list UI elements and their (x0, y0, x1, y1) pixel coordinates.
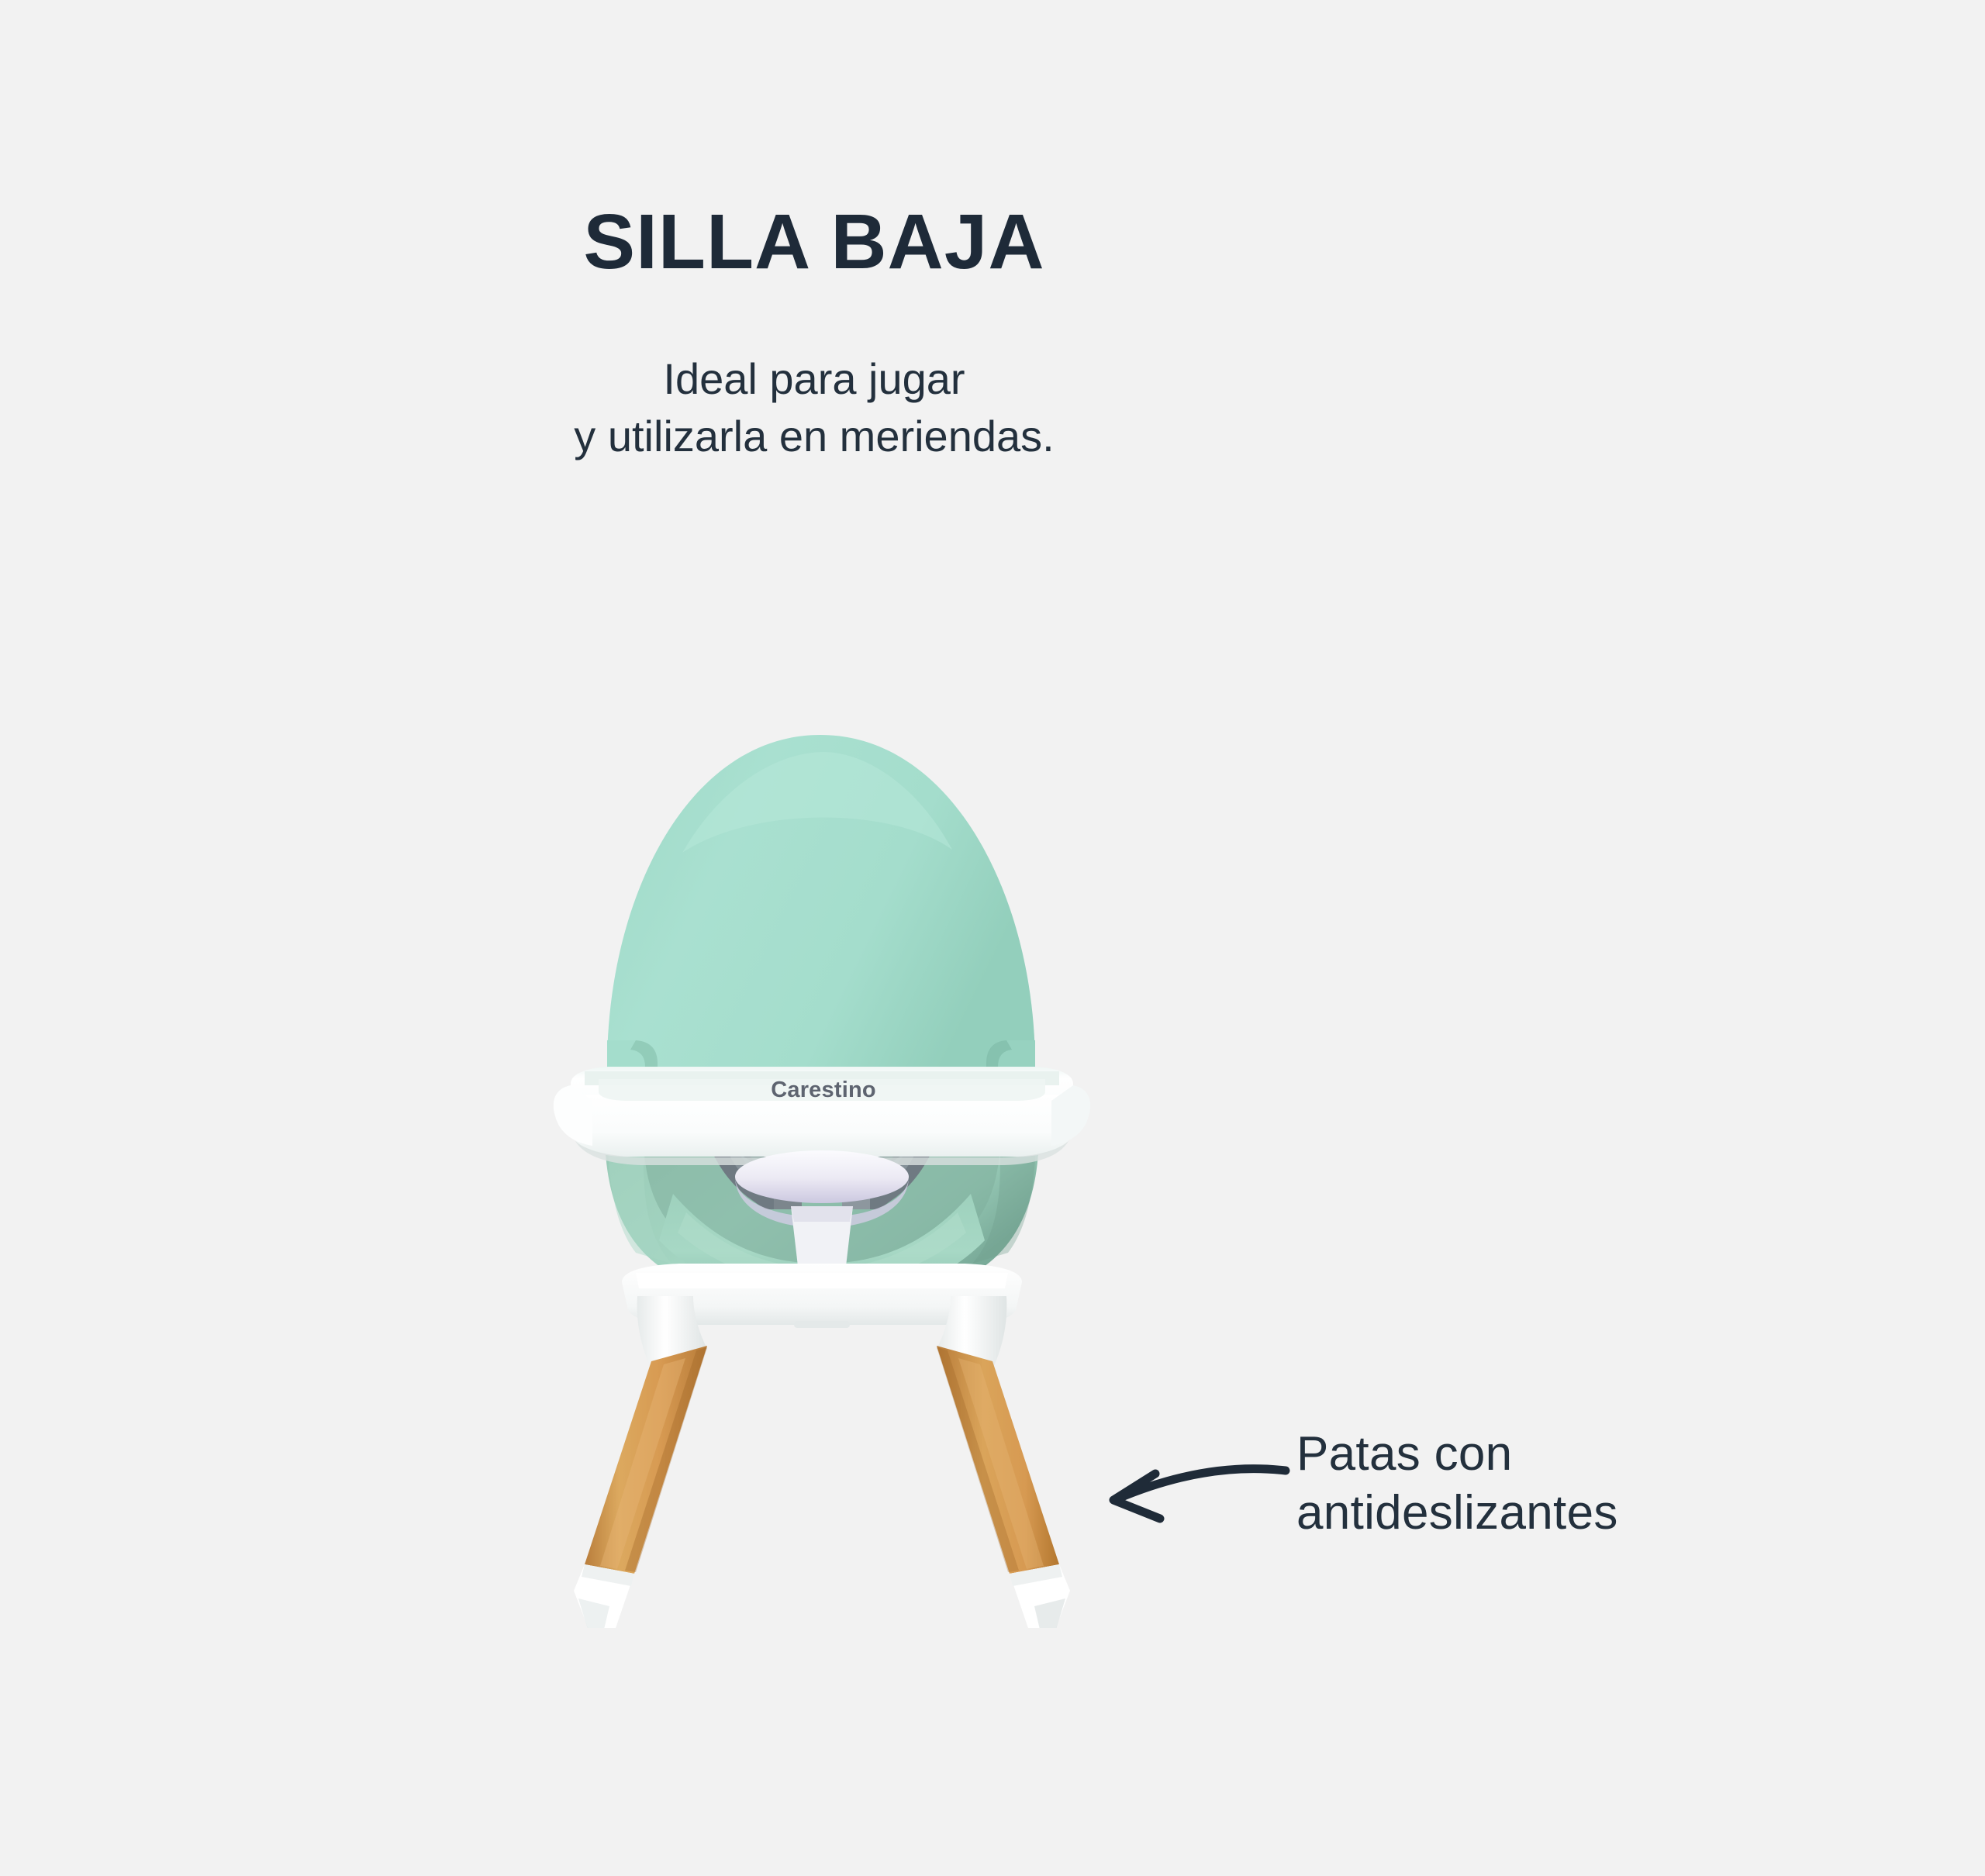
chair-leg-left (574, 1346, 707, 1628)
callout-line-1: Patas con (1296, 1425, 1618, 1484)
chair-leg-right (937, 1346, 1070, 1628)
page-subtitle: Ideal para jugar y utilizarla en meriend… (0, 350, 1628, 466)
chair-backrest (607, 735, 1035, 1085)
callout-arrow (1086, 1438, 1303, 1531)
chair-base-frame (622, 1264, 1022, 1366)
page-title: SILLA BAJA (0, 203, 1628, 281)
subtitle-line-2: y utilizarla en meriendas. (0, 408, 1628, 465)
infographic-canvas: SILLA BAJA Ideal para jugar y utilizarla… (0, 0, 1985, 1876)
callout-line-2: antideslizantes (1296, 1484, 1618, 1543)
chair-tray (554, 1067, 1090, 1165)
subtitle-line-1: Ideal para jugar (0, 350, 1628, 408)
callout-text: Patas con antideslizantes (1296, 1425, 1618, 1542)
arrow-left-curved-icon (1086, 1438, 1303, 1531)
product-image-high-chair (527, 698, 1117, 1628)
